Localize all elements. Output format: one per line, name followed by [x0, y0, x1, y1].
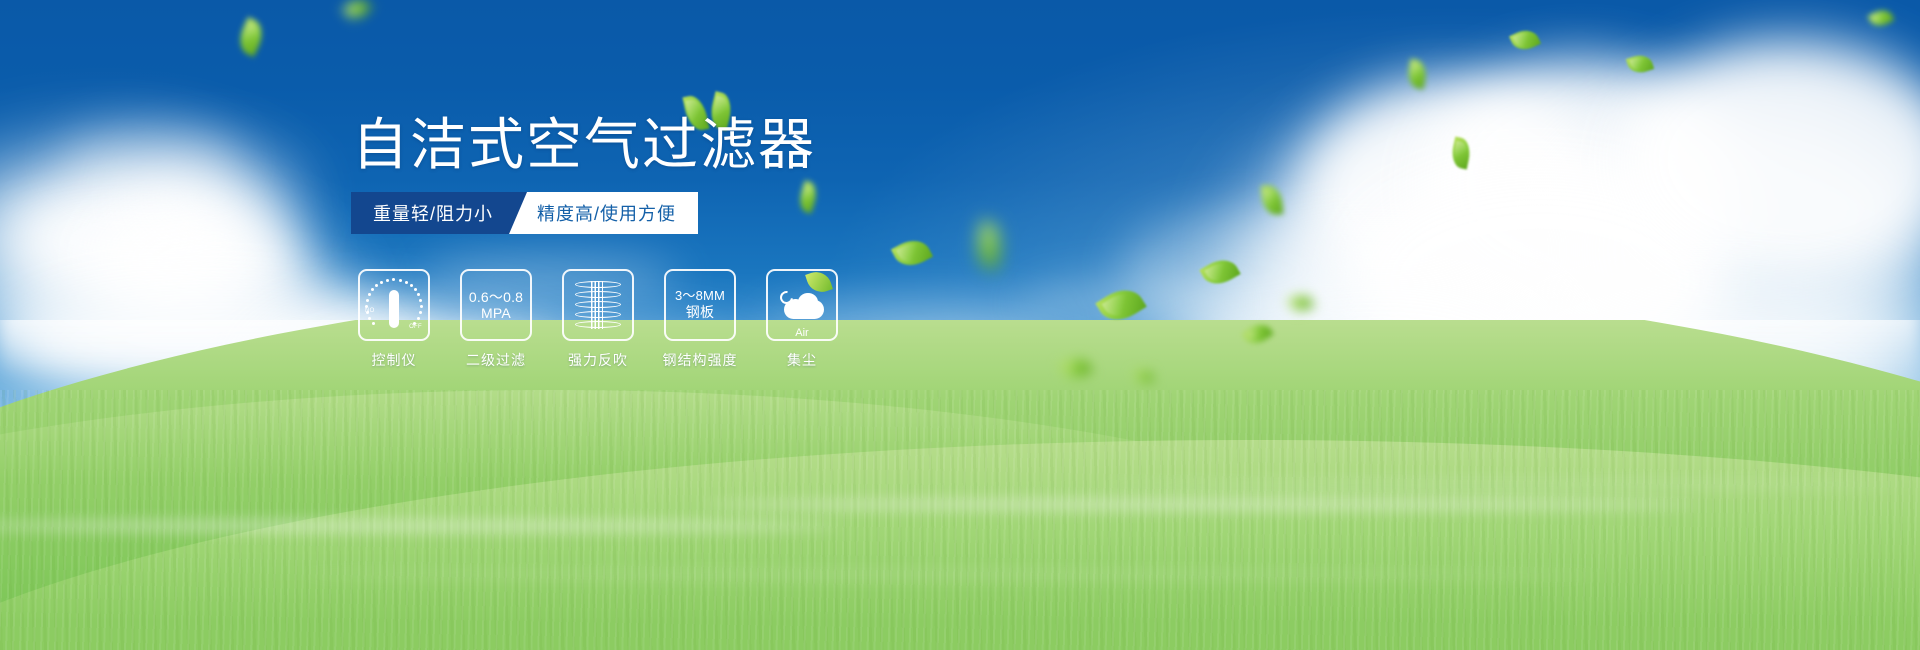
pressure-value: 0.6～0.8 — [469, 289, 523, 305]
feature-icon-box: 3～8MM 钢板 — [664, 269, 736, 341]
tab-strip: 重量轻/阻力小 精度高/使用方便 — [351, 192, 698, 234]
feature-controller[interactable]: NO OFF 控制仪 — [358, 269, 430, 370]
feature-strong-blowback[interactable]: 强力反吹 — [562, 269, 634, 370]
coil-filter-icon — [575, 280, 621, 330]
leaf-icon — [805, 268, 833, 296]
gauge-icon: NO OFF — [365, 278, 423, 332]
feature-list: NO OFF 控制仪 0.6～0.8 MPA 二级过滤 — [358, 269, 838, 370]
banner-stage: 自洁式空气过滤器 重量轻/阻力小 精度高/使用方便 — [0, 0, 1920, 650]
pressure-unit: MPA — [481, 305, 511, 321]
feature-icon-box: NO OFF — [358, 269, 430, 341]
feature-label: 二级过滤 — [466, 350, 526, 370]
gauge-on-label: NO — [365, 308, 375, 315]
feature-icon-box: Air — [766, 269, 838, 341]
air-label: Air — [776, 327, 828, 340]
steel-material: 钢板 — [686, 304, 714, 320]
feature-two-stage-filter[interactable]: 0.6～0.8 MPA 二级过滤 — [460, 269, 532, 370]
cloud-air-icon: Air — [776, 285, 828, 325]
feature-icon-box: 0.6～0.8 MPA — [460, 269, 532, 341]
banner-content: 自洁式空气过滤器 重量轻/阻力小 精度高/使用方便 — [0, 0, 1920, 650]
feature-label: 钢结构强度 — [663, 350, 738, 370]
tab-precision-convenience[interactable]: 精度高/使用方便 — [509, 192, 698, 234]
feature-label: 强力反吹 — [568, 350, 628, 370]
steel-thickness: 3～8MM — [675, 289, 725, 304]
feature-dust-collection[interactable]: Air 集尘 — [766, 269, 838, 370]
feature-steel-strength[interactable]: 3～8MM 钢板 钢结构强度 — [664, 269, 736, 370]
tab-weight-resistance[interactable]: 重量轻/阻力小 — [351, 192, 527, 234]
gauge-needle — [389, 290, 399, 328]
feature-icon-box — [562, 269, 634, 341]
feature-label: 控制仪 — [372, 350, 417, 370]
gauge-off-label: OFF — [409, 324, 422, 331]
feature-label: 集尘 — [787, 350, 817, 370]
page-title: 自洁式空气过滤器 — [352, 117, 816, 173]
